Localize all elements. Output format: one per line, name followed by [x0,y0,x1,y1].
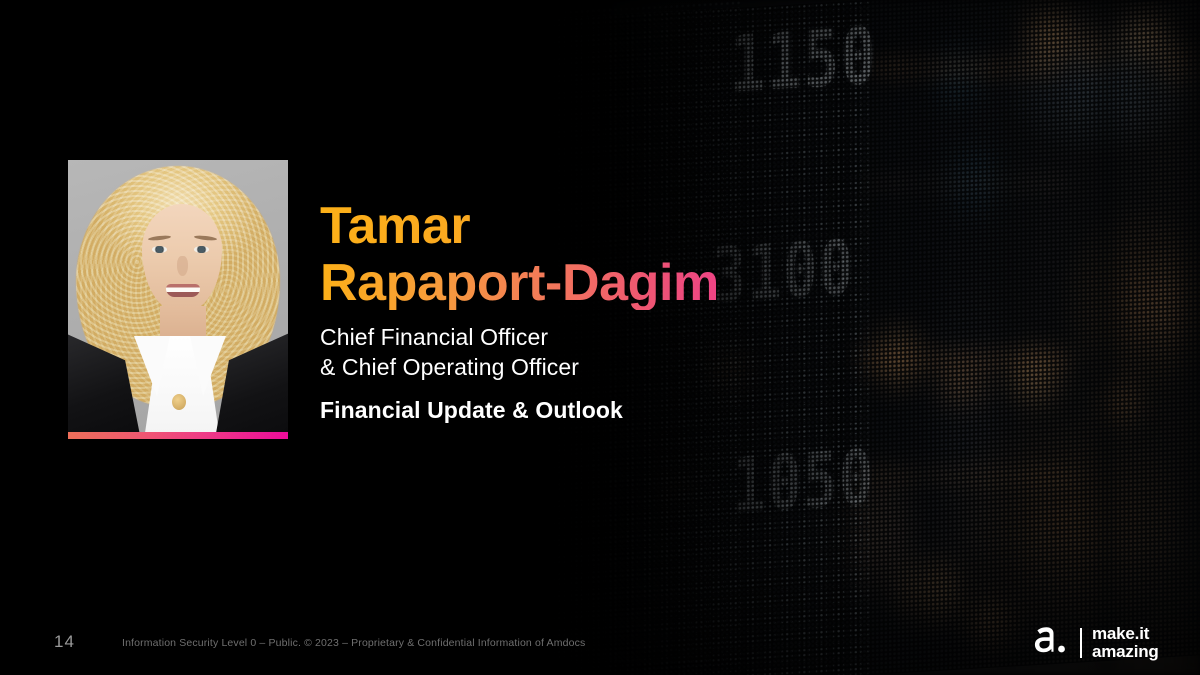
logo-tagline: make.it amazing [1092,625,1159,661]
speaker-first-name: Tamar [320,200,880,253]
amdocs-a-mark-icon [1034,626,1076,660]
portrait-eye-right [194,246,209,253]
portrait-eye-left [152,246,167,253]
photo-accent-bar [68,432,288,439]
portrait-nose [177,256,188,276]
speaker-role-line-2: & Chief Operating Officer [320,352,880,382]
session-topic: Financial Update & Outlook [320,397,880,424]
portrait-necklace [172,394,186,410]
logo-tagline-line-1: make.it [1092,625,1159,643]
speaker-photo-container [68,160,288,441]
speaker-portrait-photo [68,160,288,435]
slide-number: 14 [54,632,75,652]
speaker-last-name: Rapaport-Dagim [320,257,880,310]
speaker-role: Chief Financial Officer & Chief Operatin… [320,322,880,383]
logo-tagline-line-2: amazing [1092,643,1159,661]
portrait-mouth [166,284,200,297]
footer-confidentiality-note: Information Security Level 0 – Public. ©… [122,637,585,649]
presentation-slide: 1150 3100 1050 [0,0,1200,675]
speaker-role-line-1: Chief Financial Officer [320,322,880,352]
logo-divider [1080,628,1082,658]
amdocs-logo: make.it amazing [1034,620,1186,666]
speaker-text-block: Tamar Rapaport-Dagim Chief Financial Off… [320,200,880,424]
